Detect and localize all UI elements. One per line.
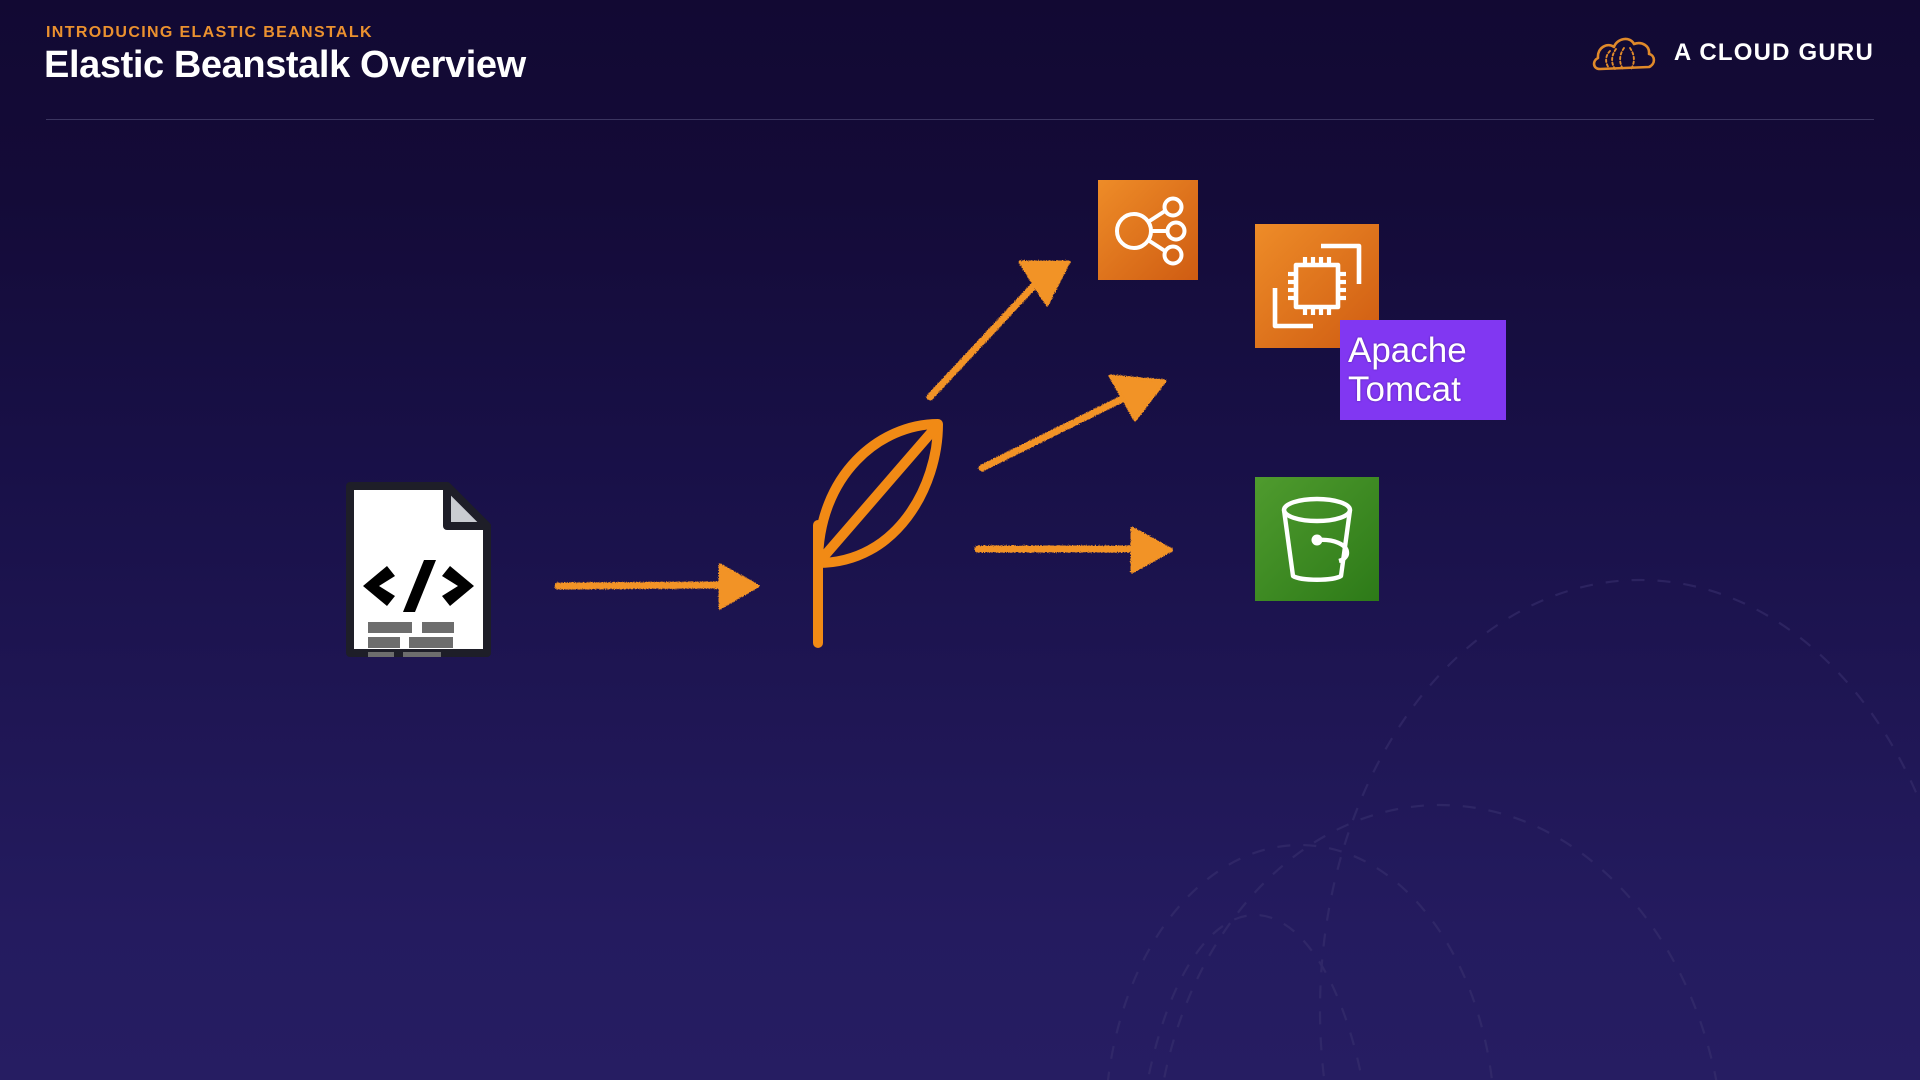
tomcat-label-line1: Apache	[1348, 331, 1506, 370]
arrow-beanstalk-to-ec2	[982, 376, 1165, 468]
elastic-load-balancer-icon	[1098, 180, 1198, 280]
architecture-diagram: Apache Tomcat	[0, 0, 1920, 1080]
arrow-beanstalk-to-elb	[930, 262, 1069, 397]
tomcat-label-line2: Tomcat	[1348, 370, 1506, 409]
slide-canvas: INTRODUCING ELASTIC BEANSTALK Elastic Be…	[0, 0, 1920, 1080]
s3-bucket-icon	[1255, 477, 1379, 601]
arrow-code-to-beanstalk	[558, 565, 758, 608]
elastic-beanstalk-leaf-icon	[800, 415, 950, 650]
source-code-document-icon	[346, 482, 491, 657]
apache-tomcat-badge: Apache Tomcat	[1340, 320, 1506, 420]
arrow-beanstalk-to-s3	[978, 528, 1172, 572]
diagram-arrows	[0, 0, 1920, 1080]
